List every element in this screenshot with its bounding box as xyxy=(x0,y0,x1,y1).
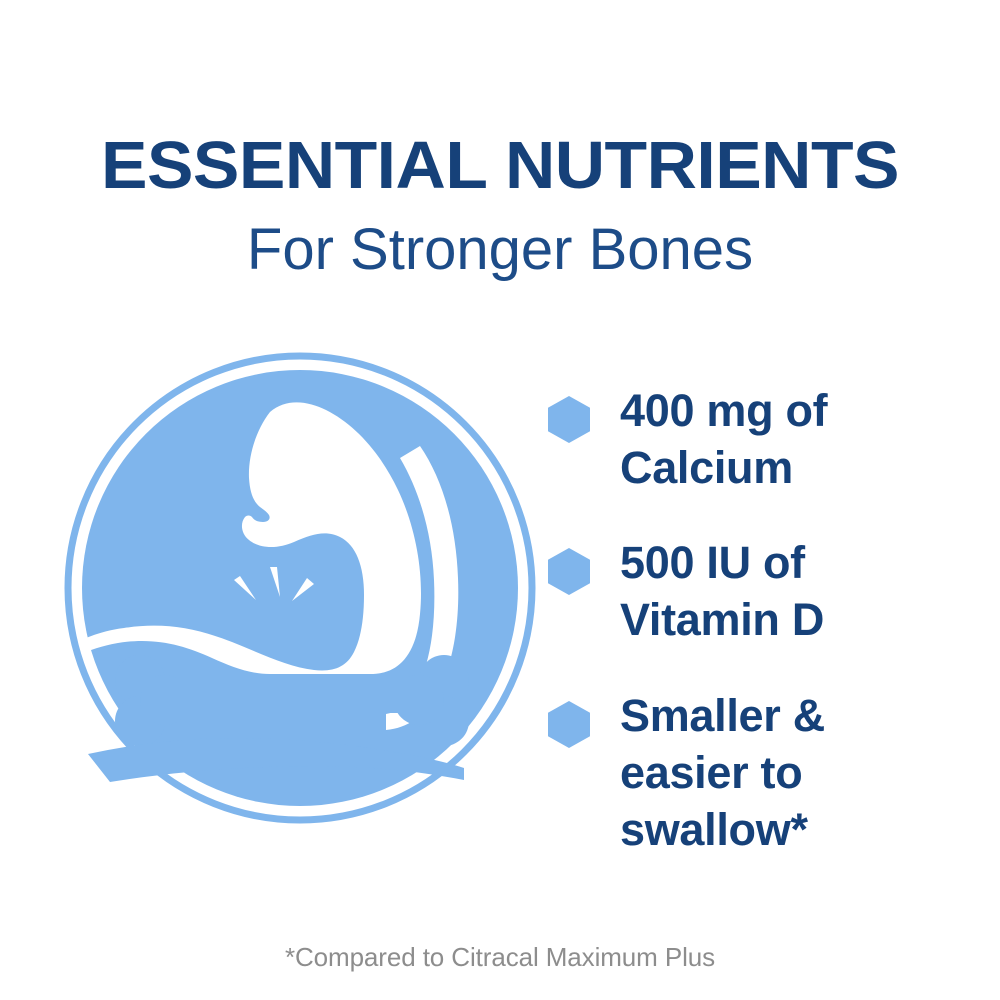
benefits-list: 400 mg of Calcium 500 IU of Vitamin D Sm… xyxy=(548,382,968,858)
hexagon-bullet-icon xyxy=(548,396,590,443)
benefit-item-calcium: 400 mg of Calcium xyxy=(548,382,968,496)
benefit-label: 500 IU of Vitamin D xyxy=(620,534,824,648)
page-title: ESSENTIAL NUTRIENTS xyxy=(0,132,1000,199)
benefit-item-swallow: Smaller & easier to swallow* xyxy=(548,687,968,858)
illustration-circle xyxy=(64,352,536,824)
hexagon-bullet-icon xyxy=(548,548,590,595)
benefit-label: Smaller & easier to swallow* xyxy=(620,687,825,858)
page-subtitle: For Stronger Bones xyxy=(0,199,1000,279)
benefit-item-vitamin-d: 500 IU of Vitamin D xyxy=(548,534,968,648)
hexagon-bullet-icon xyxy=(548,701,590,748)
heading-block: ESSENTIAL NUTRIENTS For Stronger Bones xyxy=(0,132,1000,279)
footnote: *Compared to Citracal Maximum Plus xyxy=(0,942,1000,973)
benefit-label: 400 mg of Calcium xyxy=(620,382,827,496)
flexing-arm-with-bone-icon xyxy=(64,352,536,824)
product-benefits-graphic: ESSENTIAL NUTRIENTS For Stronger Bones xyxy=(0,0,1000,1000)
